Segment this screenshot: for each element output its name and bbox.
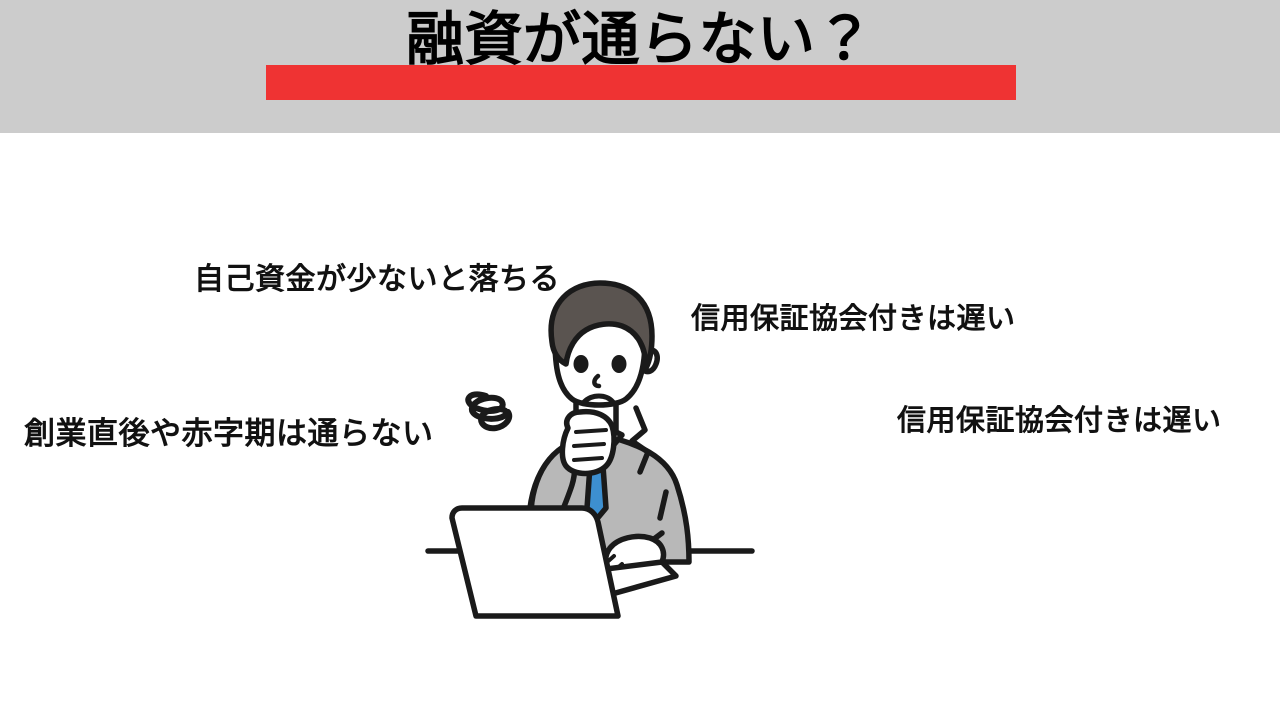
finger-line-1: [576, 430, 606, 432]
finger-line-3: [574, 458, 602, 460]
hand-on-chin: [562, 412, 614, 474]
finger-line-2: [574, 444, 604, 446]
laptop-screen: [452, 508, 618, 616]
eye-left: [574, 355, 589, 373]
slide-canvas: 融資が通らない？ 自己資金が少ないと落ちる 創業直後や赤字期は通らない 信用保証…: [0, 0, 1280, 720]
caption-credit-guarantee-2: 信用保証協会付きは遅い: [897, 401, 1222, 439]
page-title: 融資が通らない？: [0, 3, 1280, 75]
caption-startup-deficit: 創業直後や赤字期は通らない: [24, 414, 434, 454]
eye-right: [612, 355, 627, 373]
illustration-businessman-thinking: [400, 280, 780, 630]
worry-scribble-icon: [468, 394, 509, 428]
